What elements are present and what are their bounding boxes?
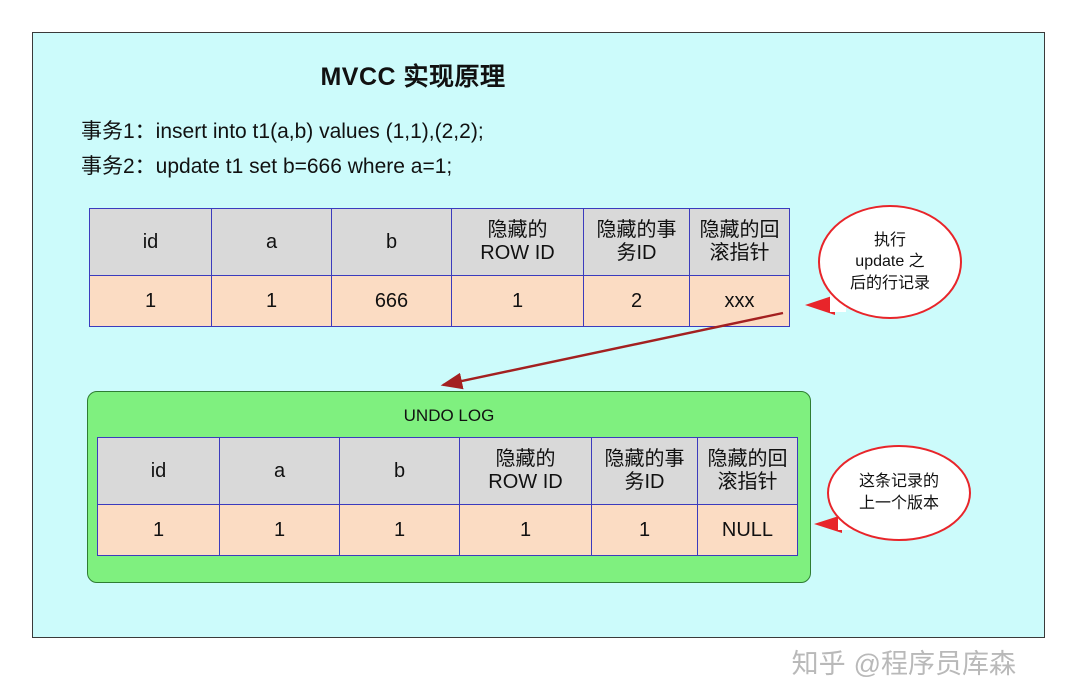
- cell-row-id: 1: [452, 276, 584, 327]
- statement-transaction-2: 事务2：update t1 set b=666 where a=1;: [81, 150, 452, 180]
- column-header-roll-pointer: 隐藏的回 滚指针: [690, 209, 790, 276]
- cell-id: 1: [90, 276, 212, 327]
- page-title: MVCC 实现原理: [33, 57, 793, 93]
- undo-log-label: UNDO LOG: [88, 406, 810, 426]
- column-header-row-id: 隐藏的 ROW ID: [460, 438, 592, 505]
- table-row: 1 1 666 1 2 xxx: [90, 276, 790, 327]
- callout-version-note: 这条记录的 上一个版本: [827, 445, 971, 541]
- column-header-a: a: [220, 438, 340, 505]
- column-header-b: b: [332, 209, 452, 276]
- cell-id: 1: [98, 505, 220, 556]
- column-header-row-id: 隐藏的 ROW ID: [452, 209, 584, 276]
- column-header-id: id: [90, 209, 212, 276]
- column-header-id: id: [98, 438, 220, 505]
- cell-roll-pointer: xxx: [690, 276, 790, 327]
- table-row: 1 1 1 1 1 NULL: [98, 505, 798, 556]
- cell-a: 1: [212, 276, 332, 327]
- cell-trx-id: 1: [592, 505, 698, 556]
- watermark-text: @程序员库森: [854, 649, 1016, 679]
- statement-transaction-1: 事务1：insert into t1(a,b) values (1,1),(2,…: [81, 115, 484, 145]
- watermark: 知乎@程序员库森: [792, 642, 1016, 681]
- column-header-a: a: [212, 209, 332, 276]
- table-undo-log-row: id a b 隐藏的 ROW ID 隐藏的事 务ID 隐藏的回 滚指针 1 1 …: [97, 437, 798, 556]
- column-header-trx-id: 隐藏的事 务ID: [592, 438, 698, 505]
- column-header-trx-id: 隐藏的事 务ID: [584, 209, 690, 276]
- cell-a: 1: [220, 505, 340, 556]
- cell-row-id: 1: [460, 505, 592, 556]
- table-row: id a b 隐藏的 ROW ID 隐藏的事 务ID 隐藏的回 滚指针: [90, 209, 790, 276]
- watermark-badge: 知乎: [792, 642, 846, 681]
- cell-trx-id: 2: [584, 276, 690, 327]
- callout-update-note: 执行 update 之 后的行记录: [818, 205, 962, 319]
- cell-roll-pointer: NULL: [698, 505, 798, 556]
- diagram-canvas: MVCC 实现原理 事务1：insert into t1(a,b) values…: [32, 32, 1045, 638]
- column-header-b: b: [340, 438, 460, 505]
- table-current-row: id a b 隐藏的 ROW ID 隐藏的事 务ID 隐藏的回 滚指针 1 1 …: [89, 208, 790, 327]
- column-header-roll-pointer: 隐藏的回 滚指针: [698, 438, 798, 505]
- table-row: id a b 隐藏的 ROW ID 隐藏的事 务ID 隐藏的回 滚指针: [98, 438, 798, 505]
- cell-b: 666: [332, 276, 452, 327]
- cell-b: 1: [340, 505, 460, 556]
